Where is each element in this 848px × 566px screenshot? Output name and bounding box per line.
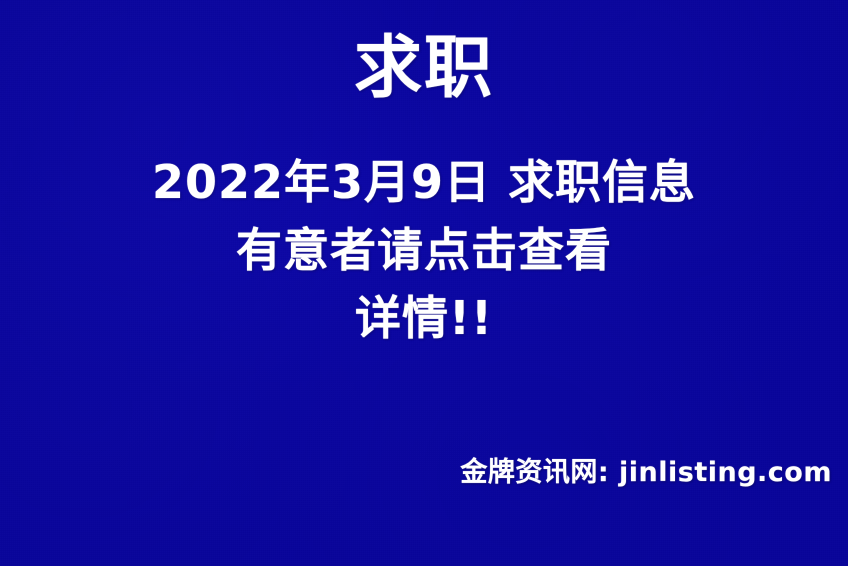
banner-headline: 求职: [0, 30, 848, 108]
body-line-details: 详情!!: [0, 284, 848, 352]
site-watermark: 金牌资讯网: jinlisting.com: [0, 455, 832, 491]
banner-body: 2022年3月9日 求职信息 有意者请点击查看 详情!!: [0, 148, 848, 352]
body-line-call-to-action: 有意者请点击查看: [0, 216, 848, 284]
body-line-date-info: 2022年3月9日 求职信息: [0, 148, 848, 216]
job-posting-banner: 求职 2022年3月9日 求职信息 有意者请点击查看 详情!! 金牌资讯网: j…: [0, 0, 848, 566]
